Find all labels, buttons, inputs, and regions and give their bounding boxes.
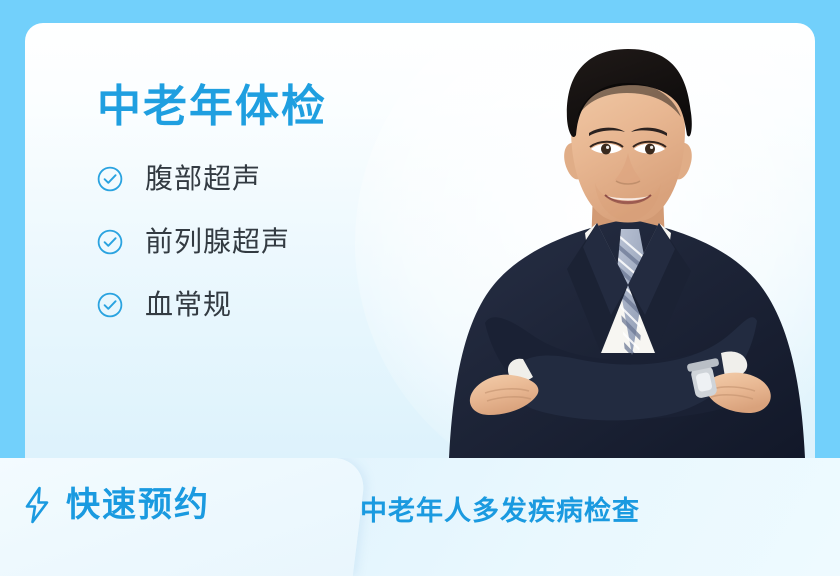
quick-booking-button[interactable]: 快速预约 — [22, 486, 210, 524]
package-card: 中老年体检 腹部超声 前列腺超声 — [25, 23, 815, 458]
check-circle-icon — [97, 292, 123, 318]
card-content: 中老年体检 腹部超声 前列腺超声 — [97, 83, 497, 319]
feature-label: 腹部超声 — [145, 165, 261, 193]
quick-booking-label: 快速预约 — [66, 488, 210, 522]
promo-poster: 中老年体检 腹部超声 前列腺超声 — [0, 0, 840, 576]
list-item: 腹部超声 — [97, 165, 497, 193]
check-circle-icon — [97, 229, 123, 255]
check-circle-icon — [97, 166, 123, 192]
feature-label: 血常规 — [145, 291, 232, 319]
list-item: 前列腺超声 — [97, 228, 497, 256]
tagline-text: 中老年人多发疾病检查 — [360, 498, 640, 525]
lightning-bolt-icon — [22, 486, 52, 524]
list-item: 血常规 — [97, 291, 497, 319]
page-title: 中老年体检 — [97, 83, 497, 131]
feature-list: 腹部超声 前列腺超声 血常规 — [97, 165, 497, 319]
bottom-bar: 快速预约 中老年人多发疾病检查 — [0, 458, 840, 576]
feature-label: 前列腺超声 — [145, 228, 290, 256]
